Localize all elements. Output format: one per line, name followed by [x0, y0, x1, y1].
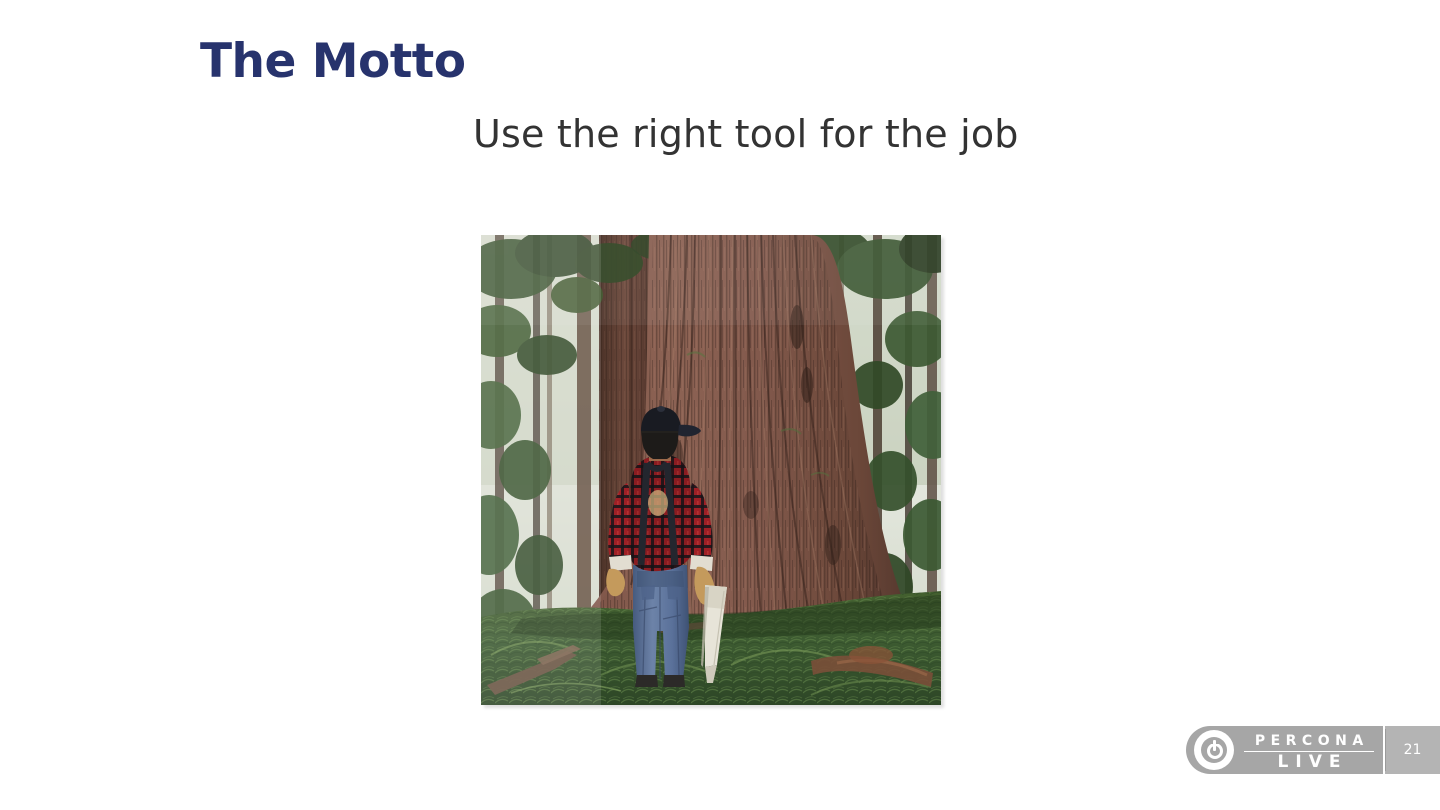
percona-live-wordmark: PERCONA LIVE — [1244, 733, 1374, 772]
power-icon-glyph-stem — [1213, 740, 1216, 751]
redwood-photo — [481, 235, 941, 705]
wordmark-live: LIVE — [1244, 752, 1374, 772]
percona-logo-plate: PERCONA LIVE — [1186, 726, 1383, 774]
slide-subtitle: Use the right tool for the job — [473, 112, 1019, 158]
slide-image — [481, 235, 941, 705]
page-title: The Motto — [200, 36, 466, 88]
page-number-plate: 21 — [1385, 726, 1440, 774]
percona-live-footer: PERCONA LIVE 21 — [1186, 726, 1440, 774]
wordmark-percona: PERCONA — [1244, 733, 1374, 752]
power-icon — [1194, 730, 1234, 770]
page-number: 21 — [1385, 726, 1440, 774]
